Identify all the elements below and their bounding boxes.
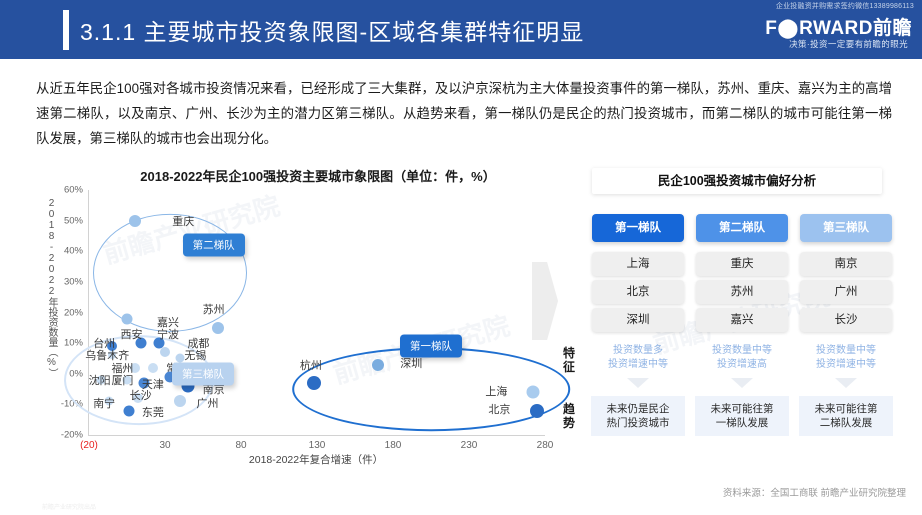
city-cell[interactable]: 嘉兴 — [696, 308, 788, 332]
x-axis-tick: (20) — [80, 440, 98, 451]
scatter-point-label: 宁波 — [157, 326, 179, 342]
y-axis-tick: 10% — [64, 338, 83, 349]
chart-x-axis-label: 2018-2022年复合增速（件） — [88, 452, 544, 467]
chart-y-axis-label: 2018-2022年投资数量（%） — [42, 198, 58, 418]
y-axis-tick: -20% — [61, 430, 83, 441]
x-axis-tick: 280 — [537, 440, 554, 451]
tier-header-2[interactable]: 第二梯队 — [696, 214, 788, 242]
scatter-point — [123, 405, 134, 416]
city-cell[interactable]: 北京 — [592, 280, 684, 304]
intro-paragraph: 从近五年民企100强对各城市投资情况来看，已经形成了三大集群，及以沪京深杭为主大… — [36, 76, 892, 151]
city-cell[interactable]: 上海 — [592, 252, 684, 276]
page-header: 3.1.1 主要城市投资象限图-区域各集群特征明显 企业投融资并购需求签约微信1… — [0, 0, 922, 59]
scatter-point — [372, 359, 384, 371]
cluster-tag-第三梯队[interactable]: 第三梯队 — [172, 362, 234, 385]
scatter-point — [148, 363, 158, 373]
row-label-trend: 趋势 — [560, 402, 578, 430]
city-cell[interactable]: 南京 — [800, 252, 892, 276]
tier-trend-text: 未来可能往第一梯队发展 — [695, 396, 789, 436]
brand-slogan: 决策·投资一定要有前瞻的眼光 — [789, 38, 908, 50]
scatter-point — [160, 347, 170, 357]
city-cell[interactable]: 苏州 — [696, 280, 788, 304]
scatter-point-label: 上海 — [485, 383, 507, 399]
forward-logo: F⬤RWARD前瞻 — [765, 13, 912, 40]
page-title: 3.1.1 主要城市投资象限图-区域各集群特征明显 — [80, 13, 584, 47]
header-accent-bar — [63, 10, 69, 50]
scatter-point-label: 长沙 — [130, 387, 152, 403]
chevron-down-icon — [627, 378, 649, 388]
tier-trend-text: 未来仍是民企热门投资城市 — [591, 396, 685, 436]
x-axis-tick: 130 — [309, 440, 326, 451]
tier-header-1[interactable]: 第一梯队 — [592, 214, 684, 242]
x-axis-tick: 80 — [235, 440, 246, 451]
quadrant-chart: 2018-2022年民企100强投资主要城市象限图（单位：件，%） 2018-2… — [36, 162, 556, 482]
scatter-point — [307, 376, 321, 390]
scatter-point — [530, 404, 544, 418]
scatter-point-label: 苏州 — [203, 301, 225, 317]
x-axis-tick: 230 — [461, 440, 478, 451]
scatter-point-label: 西安 — [121, 326, 143, 342]
scatter-point — [174, 395, 186, 407]
scatter-point-label: 东莞 — [142, 404, 164, 420]
city-cell[interactable]: 重庆 — [696, 252, 788, 276]
scatter-point — [129, 215, 141, 227]
row-label-feature: 特征 — [560, 346, 578, 374]
scatter-point — [212, 322, 224, 334]
tier-trend-text: 未来可能往第二梯队发展 — [799, 396, 893, 436]
chart-plot-area: 60%50%40%30%20%10%0%-10%-20%(20)30801301… — [88, 190, 545, 436]
chevron-down-icon — [835, 378, 857, 388]
y-axis-tick: 20% — [64, 307, 83, 318]
city-cell[interactable]: 长沙 — [800, 308, 892, 332]
preference-panel: 民企100强投资城市偏好分析 第一梯队上海北京深圳投资数量多投资增速中等未来仍是… — [560, 168, 912, 478]
scatter-point-label: 重庆 — [172, 213, 194, 229]
footnote: 前瞻产业研究院出品 — [42, 502, 96, 511]
chevron-down-icon — [731, 378, 753, 388]
scatter-point — [122, 313, 133, 324]
city-cell[interactable]: 广州 — [800, 280, 892, 304]
scatter-point-label: 广州 — [197, 395, 219, 411]
wechat-contact-note: 企业投融资并购需求签约微信13389986113 — [776, 1, 914, 11]
x-axis-tick: 30 — [159, 440, 170, 451]
scatter-point-label: 沈阳 — [89, 372, 111, 388]
scatter-point-label: 北京 — [488, 401, 510, 417]
y-axis-tick: 30% — [64, 276, 83, 287]
preference-panel-title: 民企100强投资城市偏好分析 — [592, 168, 882, 194]
tier-feature-text: 投资数量中等投资增速中等 — [797, 344, 895, 372]
tier-header-3[interactable]: 第三梯队 — [800, 214, 892, 242]
y-axis-tick: 50% — [64, 215, 83, 226]
tier-feature-text: 投资数量多投资增速中等 — [589, 344, 687, 372]
tier-feature-text: 投资数量中等投资增速高 — [693, 344, 791, 372]
x-axis-tick: 180 — [385, 440, 402, 451]
cluster-tag-第二梯队[interactable]: 第二梯队 — [183, 234, 245, 257]
y-axis-tick: 40% — [64, 246, 83, 257]
scatter-point-label: 厦门 — [111, 372, 133, 388]
source-note: 资料来源：全国工商联 前瞻产业研究院整理 — [723, 485, 906, 499]
city-cell[interactable]: 深圳 — [592, 308, 684, 332]
scatter-point-label: 南宁 — [93, 395, 115, 411]
chart-title: 2018-2022年民企100强投资主要城市象限图（单位：件，%） — [88, 166, 548, 185]
scatter-point-label: 杭州 — [300, 357, 322, 373]
cluster-tag-第一梯队[interactable]: 第一梯队 — [400, 335, 462, 358]
scatter-point — [526, 386, 539, 399]
y-axis-tick: 60% — [64, 185, 83, 196]
